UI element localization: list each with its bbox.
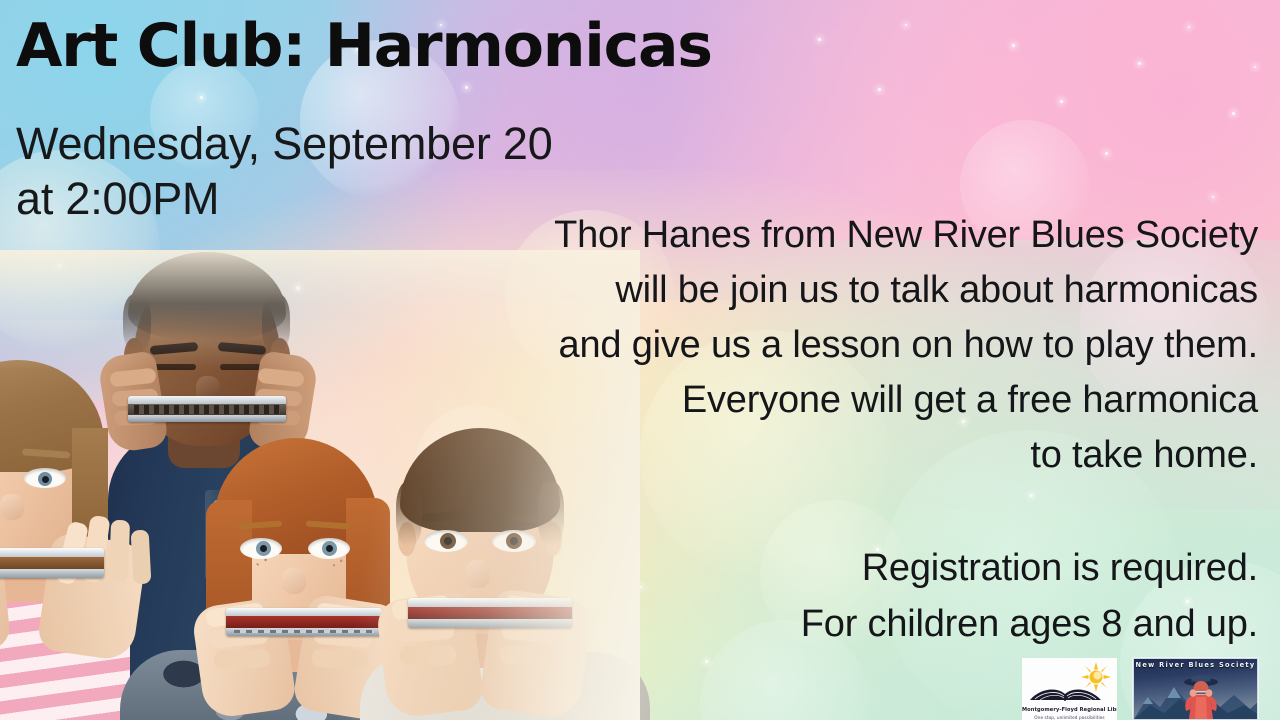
registration-line: Registration is required. xyxy=(558,541,1258,597)
blues-society-name: New River Blues Society xyxy=(1134,661,1257,669)
description-line: and give us a lesson on how to play them… xyxy=(438,318,1258,373)
description-line: to take home. xyxy=(438,428,1258,483)
description-line: will be join us to talk about harmonicas xyxy=(438,263,1258,318)
page-title: Art Club: Harmonicas xyxy=(16,16,712,76)
logo-row: Montgomery-Floyd Regional Library One st… xyxy=(1022,658,1258,720)
blues-society-logo: New River Blues Society xyxy=(1133,658,1258,720)
harmonica xyxy=(226,608,382,636)
library-name: Montgomery-Floyd Regional Library xyxy=(1022,707,1117,713)
event-date: Wednesday, September 20 xyxy=(16,116,553,171)
description-line: Everyone will get a free harmonica xyxy=(438,373,1258,428)
library-tagline: One stop, unlimited possibilities xyxy=(1022,715,1117,720)
harmonica-player-icon xyxy=(1180,671,1222,719)
library-logo: Montgomery-Floyd Regional Library One st… xyxy=(1022,658,1117,720)
harmonica xyxy=(0,548,104,578)
open-book-icon xyxy=(1028,679,1104,703)
registration-note: Registration is required. For children a… xyxy=(558,541,1258,653)
registration-line: For children ages 8 and up. xyxy=(558,597,1258,653)
description-line: Thor Hanes from New River Blues Society xyxy=(438,208,1258,263)
event-flyer: Art Club: Harmonicas Wednesday, Septembe… xyxy=(0,0,1280,720)
harmonica xyxy=(408,598,572,628)
event-description: Thor Hanes from New River Blues Society … xyxy=(438,208,1258,483)
harmonica xyxy=(128,396,286,422)
